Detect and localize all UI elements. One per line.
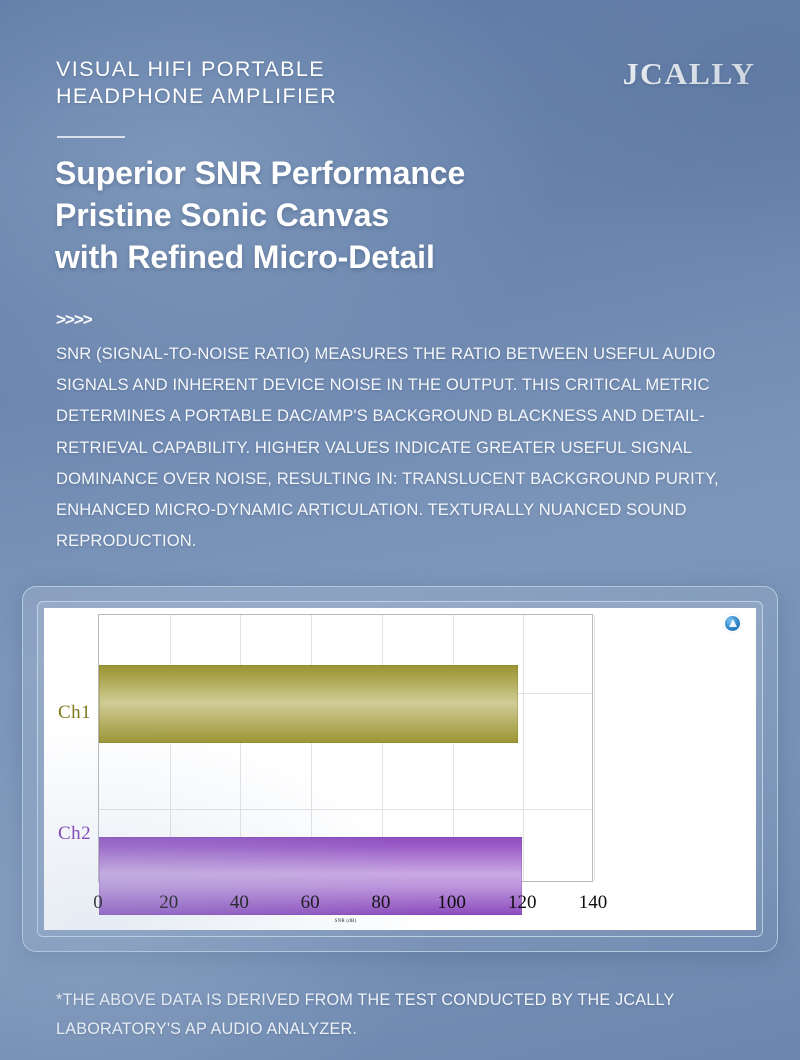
x-tick-label: 140 — [579, 892, 608, 914]
product-category-label: VISUAL HIFI PORTABLE HEADPHONE AMPLIFIER — [56, 56, 337, 110]
category-label-ch1: Ch1 — [58, 702, 91, 724]
page-header: VISUAL HIFI PORTABLE HEADPHONE AMPLIFIER… — [56, 56, 754, 110]
bar-ch1 — [99, 665, 518, 743]
x-tick-label: 80 — [371, 892, 390, 914]
chart-panel-inner: Ch1 Ch2 118. 568 dB 119. 504 dB 02040608… — [37, 601, 763, 937]
x-tick-label: 60 — [301, 892, 320, 914]
poster-page: VISUAL HIFI PORTABLE HEADPHONE AMPLIFIER… — [0, 0, 800, 1060]
x-tick-label: 20 — [159, 892, 178, 914]
x-tick-label: 40 — [230, 892, 249, 914]
chart-panel: Ch1 Ch2 118. 568 dB 119. 504 dB 02040608… — [22, 586, 778, 952]
ap-analyzer-icon — [725, 616, 740, 631]
footer-disclaimer: *THE ABOVE DATA IS DERIVED FROM THE TEST… — [56, 986, 766, 1044]
page-title: Superior SNR Performance Pristine Sonic … — [55, 152, 465, 278]
plot-area — [98, 614, 593, 882]
gridline-vertical — [594, 615, 595, 881]
brand-logo-jcally: JCALLY — [623, 56, 756, 92]
x-tick-label: 120 — [508, 892, 537, 914]
chart-canvas: Ch1 Ch2 118. 568 dB 119. 504 dB 02040608… — [44, 608, 756, 930]
x-axis-title: SNR (dB) — [335, 919, 357, 924]
x-tick-label: 100 — [437, 892, 466, 914]
gridline-vertical — [523, 615, 524, 881]
x-tick-label: 0 — [93, 892, 103, 914]
chevron-accent-icon: >>>> — [56, 310, 92, 330]
gridline-horizontal — [99, 809, 592, 810]
body-description: SNR (SIGNAL-TO-NOISE RATIO) MEASURES THE… — [56, 338, 774, 556]
header-divider — [57, 136, 125, 138]
category-label-ch2: Ch2 — [58, 823, 91, 845]
